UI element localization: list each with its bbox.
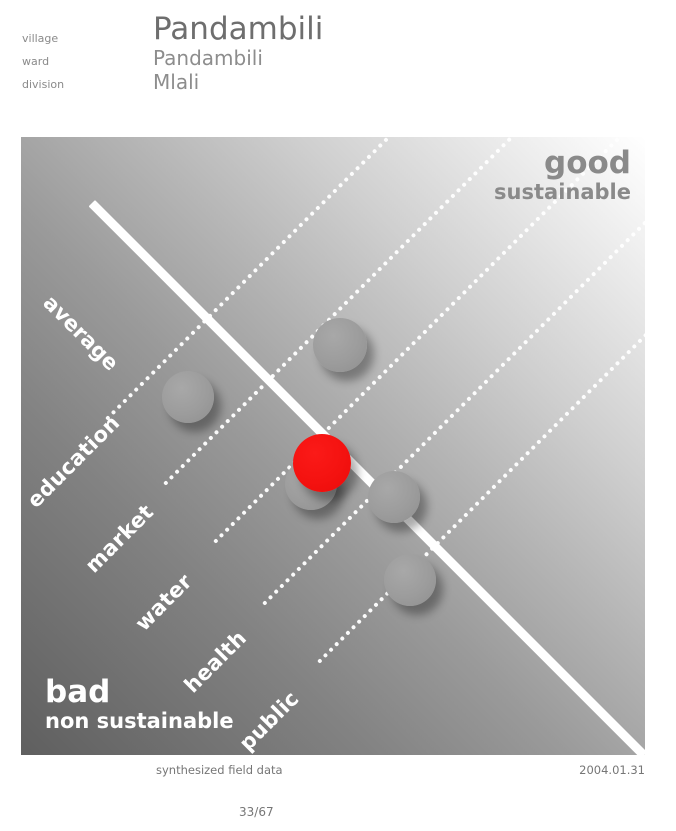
average-label: average — [39, 291, 124, 376]
header-key-division: division — [22, 78, 64, 91]
sustainability-matrix-chart: educationmarketwaterhealthpublic average… — [21, 137, 645, 755]
page-title: Pandambili — [153, 12, 323, 46]
legend-good: good sustainable — [494, 147, 631, 204]
legend-good-title: good — [494, 147, 631, 180]
gridline-market — [163, 137, 541, 486]
axis-label-public: public — [235, 686, 304, 755]
legend-bad: bad non sustainable — [45, 676, 234, 733]
footer-source: synthesized field data — [156, 763, 283, 777]
gridline-health — [262, 192, 645, 607]
header-key-ward: ward — [22, 55, 49, 68]
bubble-overall[interactable] — [293, 434, 351, 492]
footer-date: 2004.01.31 — [579, 763, 645, 777]
axis-label-education: education — [23, 411, 125, 513]
header-value-division: Mlali — [153, 70, 199, 94]
bubble-market[interactable] — [313, 318, 367, 372]
page-number: 33/67 — [239, 805, 274, 819]
bubble-public[interactable] — [384, 554, 436, 606]
header: village ward division Pandambili Pandamb… — [0, 0, 676, 137]
header-value-ward: Pandambili — [153, 46, 263, 70]
legend-bad-subtitle: non sustainable — [45, 709, 234, 733]
axis-label-market: market — [81, 500, 159, 578]
legend-good-subtitle: sustainable — [494, 180, 631, 204]
header-key-village: village — [22, 32, 58, 45]
bubble-education[interactable] — [162, 371, 214, 423]
axis-label-water: water — [131, 569, 197, 635]
legend-bad-title: bad — [45, 676, 234, 709]
bubble-health[interactable] — [368, 471, 420, 523]
